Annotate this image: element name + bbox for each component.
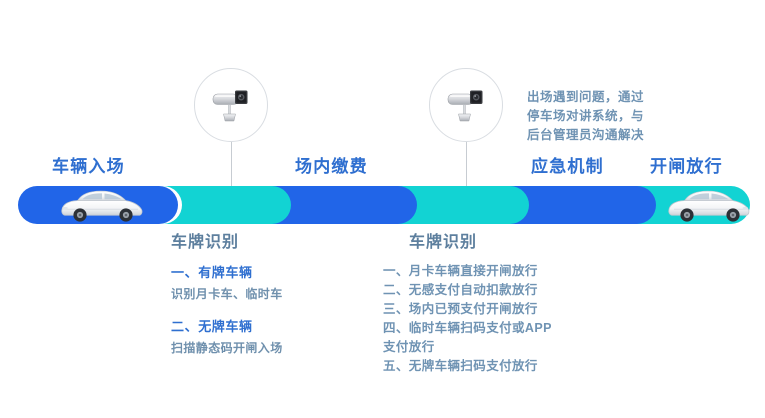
pipeline-segment-gate-release[interactable] [637,186,750,224]
note-line: 出场遇到问题，通过 [527,88,757,107]
emergency-note: 出场遇到问题，通过 停车场对讲系统，与 后台管理员沟通解决 [527,88,757,145]
sub-label-plate-recognition-entry: 车牌识别 [171,228,239,252]
exit-detail-list: 一、月卡车辆直接开闸放行 二、无感支付自动扣款放行 三、场内已预支付开闸放行 四… [383,262,552,376]
camera-node-exit [429,68,503,142]
list-item-continuation: 支付放行 [383,338,552,357]
pipeline-segment-vehicle-entry[interactable] [18,186,178,224]
entry-detail-description: 识别月卡车、临时车 [171,285,283,302]
list-item: 一、月卡车辆直接开闸放行 [383,262,552,281]
entry-detail-heading: 一、有牌车辆 [171,262,283,281]
stage-label-emergency-mechanism: 应急机制 [531,152,604,177]
entry-detail-heading: 二、无牌车辆 [171,316,283,335]
entry-detail-description: 扫描静态码开闸入场 [171,339,283,356]
process-pipeline [0,186,765,228]
entry-detail-list: 一、有牌车辆 识别月卡车、临时车 二、无牌车辆 扫描静态码开闸入场 [171,262,283,356]
list-item: 二、无感支付自动扣款放行 [383,281,552,300]
note-line: 后台管理员沟通解决 [527,126,757,145]
cctv-camera-icon [443,85,489,125]
camera-node-entry [194,68,268,142]
note-line: 停车场对讲系统，与 [527,107,757,126]
sub-label-plate-recognition-exit: 车牌识别 [409,228,477,252]
stage-label-gate-release: 开闸放行 [650,152,723,177]
list-item: 三、场内已预支付开闸放行 [383,300,552,319]
stage-label-in-lot-payment: 场内缴费 [295,152,368,177]
cctv-camera-icon [208,85,254,125]
stage-label-vehicle-entry: 车辆入场 [52,152,125,177]
parking-flow-diagram: 出场遇到问题，通过 停车场对讲系统，与 后台管理员沟通解决 车辆入场 场内缴费 … [0,0,765,418]
list-item: 四、临时车辆扫码支付或APP [383,319,552,338]
list-item: 五、无牌车辆扫码支付放行 [383,357,552,376]
